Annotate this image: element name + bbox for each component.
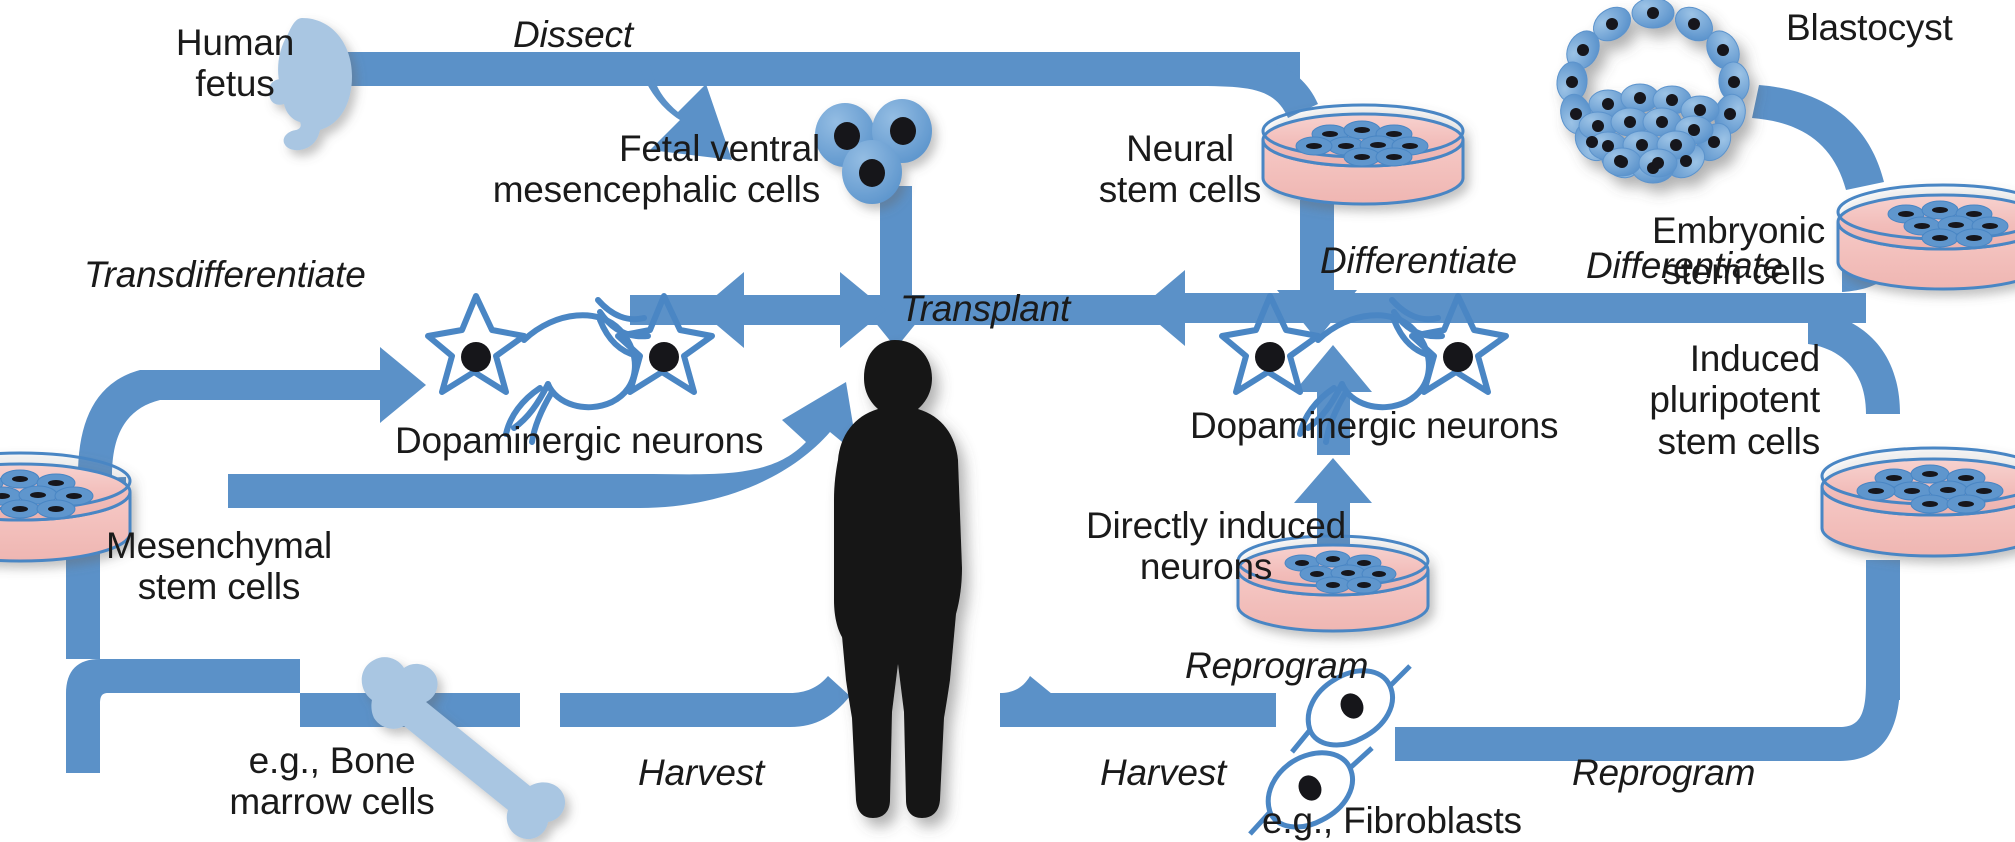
- label-induced-pluripotent-stem-cells: Induced pluripotent stem cells: [1588, 338, 1820, 462]
- label-differentiate-neural: Differentiate: [1320, 240, 1517, 281]
- arrow-blastocyst-to-esc: [1752, 85, 1884, 190]
- label-human-fetus: Human fetus: [150, 22, 320, 105]
- diagram-canvas: Human fetus Dissect Fetal ventral mesenc…: [0, 0, 2015, 842]
- label-transdifferentiate: Transdifferentiate: [84, 254, 366, 295]
- label-dopaminergic-neurons-right: Dopaminergic neurons: [1190, 405, 1530, 446]
- label-directly-induced-neurons: Directly induced neurons: [1086, 505, 1326, 588]
- petri-dish-induced-pluripotent-stem-cells: [1822, 448, 2015, 556]
- label-fetal-ventral-mesencephalic-cells: Fetal ventral mesencephalic cells: [420, 128, 820, 211]
- petri-dish-embryonic-stem-cells: [1838, 185, 2015, 289]
- blastocyst-illustration: [1555, 0, 1751, 185]
- arrow-harvest-right-bar: [1000, 693, 1276, 727]
- label-reprogram-right: Reprogram: [1572, 752, 1755, 793]
- label-blastocyst: Blastocyst: [1786, 7, 1953, 48]
- fetal-vm-cell-cluster: [815, 99, 932, 204]
- label-fibroblasts: e.g., Fibroblasts: [1262, 800, 1522, 841]
- arrow-harvest-left-curve: [790, 676, 850, 727]
- petri-dish-neural-stem-cells: [1263, 105, 1463, 204]
- arrow-harvest-left-bar: [560, 693, 790, 727]
- label-differentiate-merged: Differentiate: [1586, 245, 1783, 286]
- label-bone-marrow-cells: e.g., Bone marrow cells: [212, 740, 452, 823]
- arrow-ipsc-merge: [1808, 310, 1900, 414]
- arrow-transdifferentiate: [78, 347, 426, 476]
- patient-silhouette: [834, 340, 962, 818]
- label-dopaminergic-neurons-left: Dopaminergic neurons: [395, 420, 745, 461]
- label-reprogram-center: Reprogram: [1185, 645, 1368, 686]
- label-harvest-right: Harvest: [1100, 752, 1226, 793]
- arrow-reprogram-right-stem: [1866, 560, 1900, 700]
- label-dissect: Dissect: [513, 14, 633, 55]
- label-neural-stem-cells: Neural stem cells: [1090, 128, 1270, 211]
- label-mesenchymal-stem-cells: Mesenchymal stem cells: [104, 525, 334, 608]
- arrow-dissect-trunk: [322, 52, 1300, 86]
- label-transplant: Transplant: [900, 288, 1070, 329]
- label-harvest-left: Harvest: [638, 752, 764, 793]
